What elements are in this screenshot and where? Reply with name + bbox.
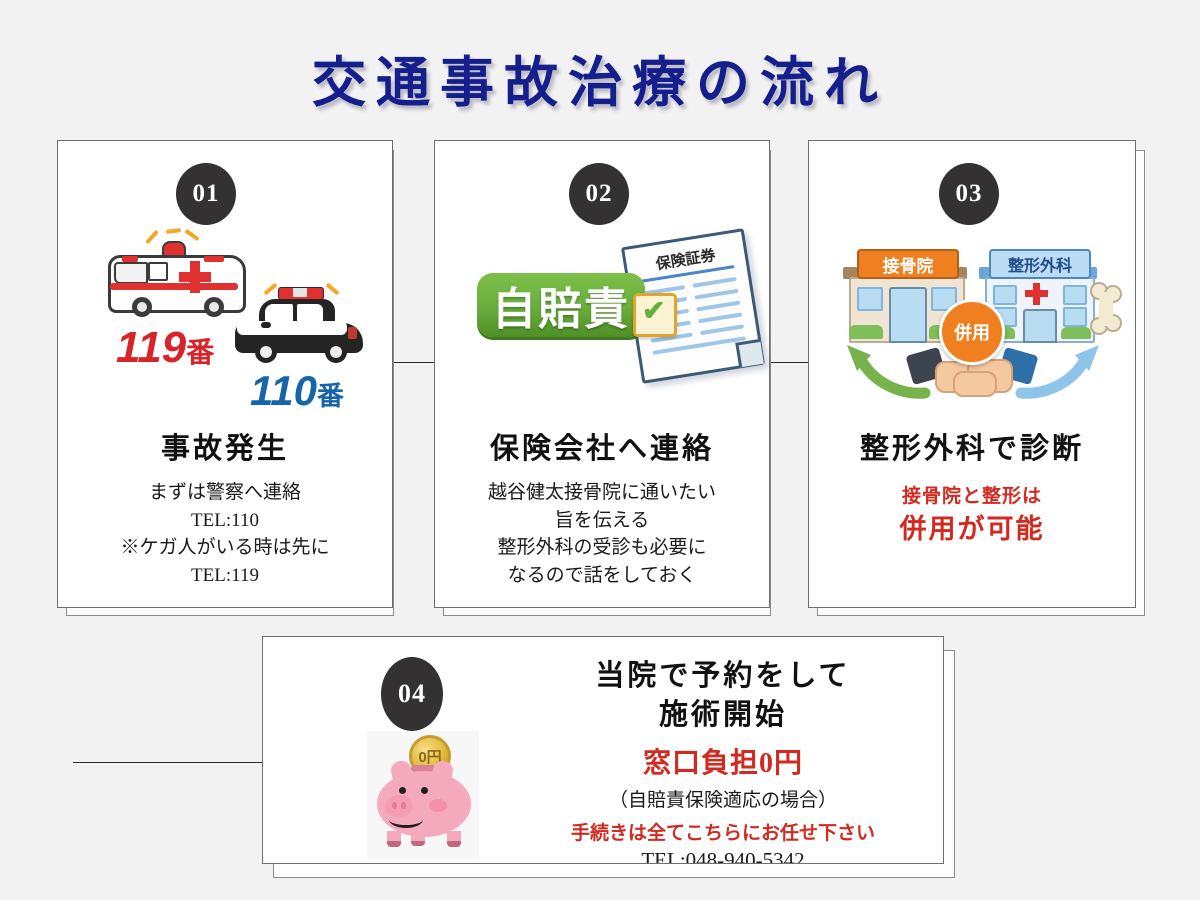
step-number-badge-4: 04 [381, 657, 443, 731]
clinic-handshake-illustration: 接骨院 整形外科 [827, 237, 1119, 403]
card-4-tel: TEL:048-940-5342 [513, 848, 933, 864]
card-3-title: 整形外科で診断 [809, 425, 1135, 467]
insurance-certificate-title: 保険証券 [638, 241, 734, 276]
jibaiseki-badge-text: 自賠責 [492, 273, 630, 337]
seikeigeka-sign: 整形外科 [989, 249, 1091, 279]
heiyo-badge-text: 併用 [954, 319, 990, 345]
connector-card3-card4 [73, 762, 263, 763]
step-card-4[interactable]: 04 0円 当院で予約をして [262, 636, 944, 864]
step-number-badge-3: 03 [939, 163, 999, 225]
card-1-body-line-2: TEL:110 [58, 507, 392, 535]
seikeigeka-sign-text: 整形外科 [1008, 252, 1072, 276]
step-card-2[interactable]: 02 保険証券 自賠責 ✔ 保険会社へ連絡 [434, 140, 770, 608]
card-3-red-small: 接骨院と整形は [809, 481, 1135, 508]
card-1-title: 事故発生 [58, 425, 392, 467]
step-card-1[interactable]: 01 119番 [57, 140, 393, 608]
step-number-badge-1: 01 [176, 163, 236, 225]
infographic-stage: 交通事故治療の流れ 01 119番 [0, 0, 1200, 900]
jibaiseki-badge: 自賠責 [477, 273, 645, 337]
card-1-body-line-3: ※ケガ人がいる時は先に [58, 534, 392, 562]
step-number-4: 04 [398, 679, 426, 709]
seikotsuin-sign: 接骨院 [857, 249, 959, 279]
step-number-badge-2: 02 [569, 163, 629, 225]
card-4-red-small: 手続きは全てこちらにお任せ下さい [513, 818, 933, 845]
card-3-red-big: 併用が可能 [809, 507, 1135, 546]
check-mark-icon: ✔ [642, 298, 665, 326]
card-2-body-line-4: なるので話をしておく [435, 562, 769, 590]
piggy-bank-icon: 0円 [367, 731, 479, 859]
ambulance-icon [100, 229, 252, 329]
step-number-1: 01 [193, 180, 220, 208]
card-4-red-big: 窓口負担0円 [513, 741, 933, 781]
card-4-title-line-2: 施術開始 [513, 696, 933, 735]
heiyo-badge: 併用 [939, 299, 1005, 365]
card-4-text-block: 当院で予約をして 施術開始 窓口負担0円 （自賠責保険適応の場合） 手続きは全て… [513, 657, 933, 864]
card-2-body-line-3: 整形外科の受診も必要に [435, 534, 769, 562]
step-card-3[interactable]: 03 接骨院 [808, 140, 1136, 608]
card-2-body-line-1: 越谷健太接骨院に通いたい [435, 479, 769, 507]
connector-card2-card3 [770, 362, 808, 363]
card-4-title-line-1: 当院で予約をして [513, 657, 933, 696]
card-2-title: 保険会社へ連絡 [435, 425, 769, 467]
card-1-body-line-4: TEL:119 [58, 562, 392, 590]
step-number-3: 03 [956, 180, 983, 208]
connector-card1-card2 [393, 362, 437, 363]
card-4-note: （自賠責保険適応の場合） [513, 785, 933, 812]
bone-icon [1089, 281, 1123, 337]
card-2-body-line-2: 旨を伝える [435, 507, 769, 535]
card-2-body: 越谷健太接骨院に通いたい 旨を伝える 整形外科の受診も必要に なるので話をしてお… [435, 479, 769, 589]
card-1-body: まずは警察へ連絡 TEL:110 ※ケガ人がいる時は先に TEL:119 [58, 479, 392, 589]
page-title: 交通事故治療の流れ [0, 38, 1200, 117]
police-car-icon [233, 281, 373, 373]
police-number-label: 110番 [250, 367, 344, 415]
ambulance-number-label: 119番 [116, 323, 214, 373]
seikotsuin-sign-text: 接骨院 [883, 252, 934, 277]
checkbox-icon: ✔ [633, 293, 677, 337]
card-1-body-line-1: まずは警察へ連絡 [58, 479, 392, 507]
step-number-2: 02 [586, 180, 613, 208]
